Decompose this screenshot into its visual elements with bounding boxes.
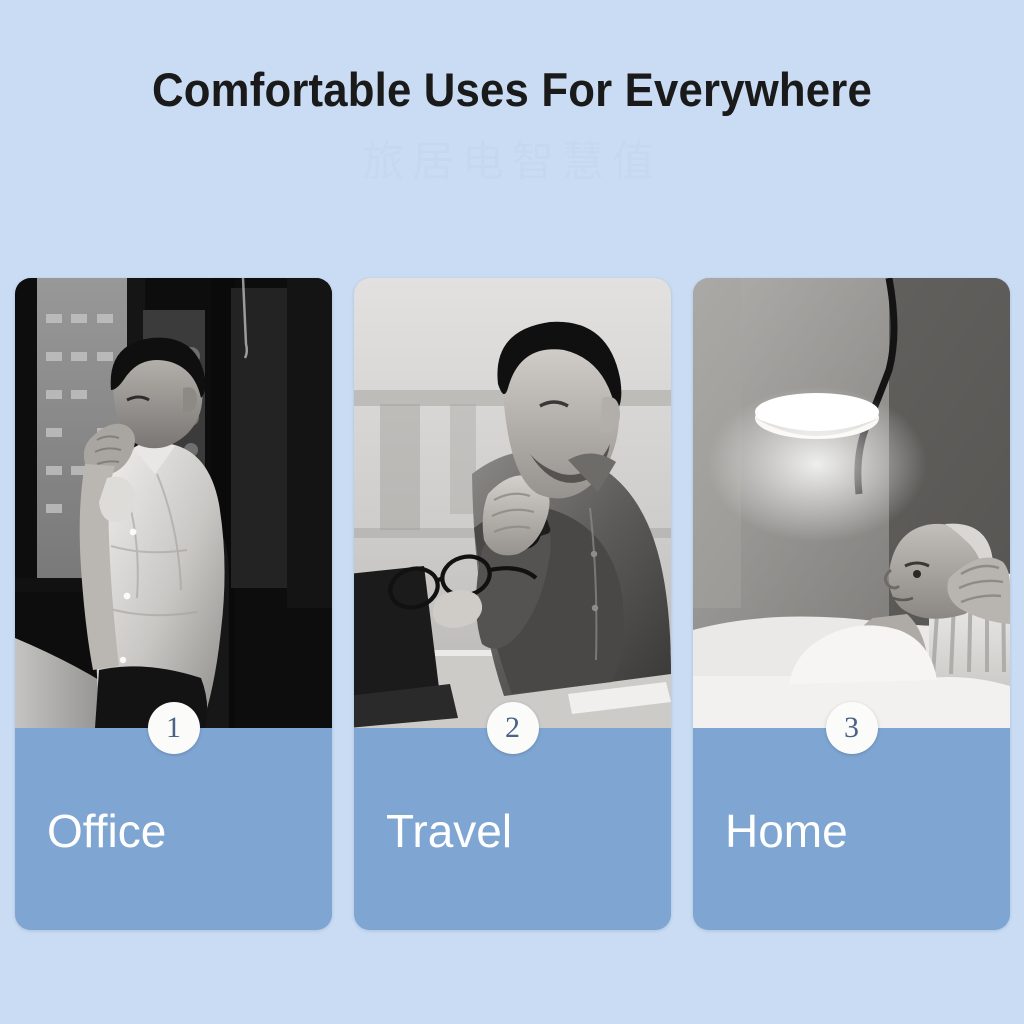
card-label-office: Office	[47, 808, 166, 854]
photo-man-at-desk-with-glasses	[354, 278, 671, 728]
use-case-card-office[interactable]: 1 Office	[15, 278, 332, 930]
card-number-badge: 3	[826, 702, 878, 754]
watermark-text: 旅居电智慧值	[0, 128, 1024, 189]
card-number-badge: 1	[148, 702, 200, 754]
card-label-home: Home	[725, 808, 848, 854]
use-case-card-home[interactable]: 3 Home	[693, 278, 1010, 930]
page-title: Comfortable Uses For Everywhere	[36, 62, 988, 117]
use-case-card-row: 1 Office	[15, 278, 1010, 930]
photo-man-at-office-window	[15, 278, 332, 728]
card-label-travel: Travel	[386, 808, 512, 854]
use-case-card-travel[interactable]: 2 Travel	[354, 278, 671, 930]
card-number-badge: 2	[487, 702, 539, 754]
photo-man-lying-in-bed	[693, 278, 1010, 728]
